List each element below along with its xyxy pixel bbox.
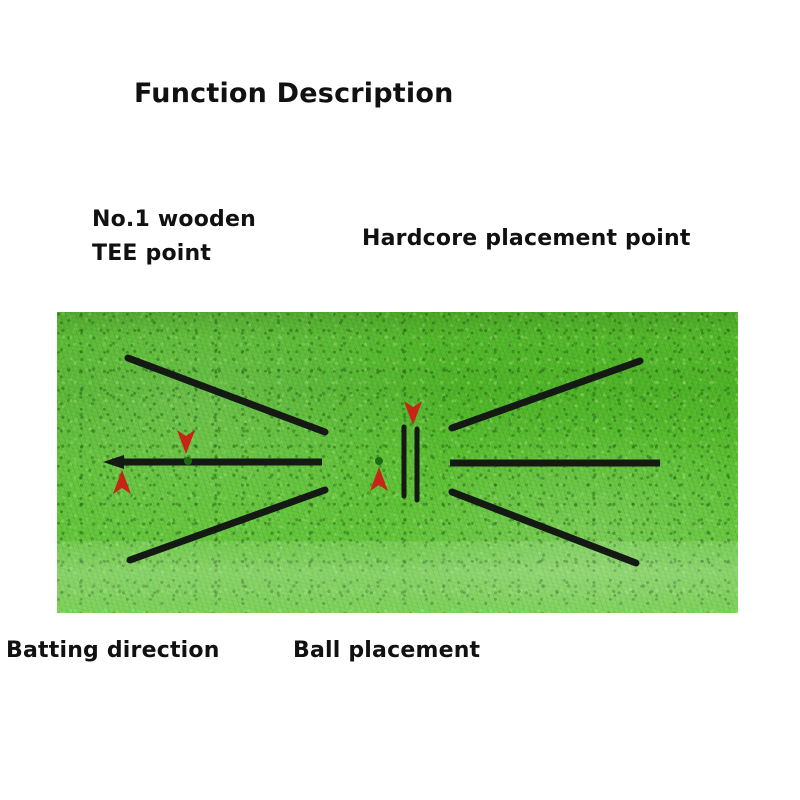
ball-placement-label: Ball placement — [293, 638, 480, 664]
mat-fiber-layer — [57, 312, 738, 613]
page-title: Function Description — [134, 78, 454, 110]
batting-direction-label: Batting direction — [6, 638, 220, 664]
function-description-diagram: Function Description No.1 wooden TEE poi… — [0, 0, 800, 800]
tee-point-label: No.1 wooden TEE point — [92, 203, 256, 271]
hardcore-placement-label: Hardcore placement point — [362, 226, 691, 252]
tee-point-label-line1: No.1 wooden — [92, 203, 256, 237]
golf-practice-mat — [57, 312, 738, 613]
tee-point-label-line2: TEE point — [92, 237, 256, 271]
